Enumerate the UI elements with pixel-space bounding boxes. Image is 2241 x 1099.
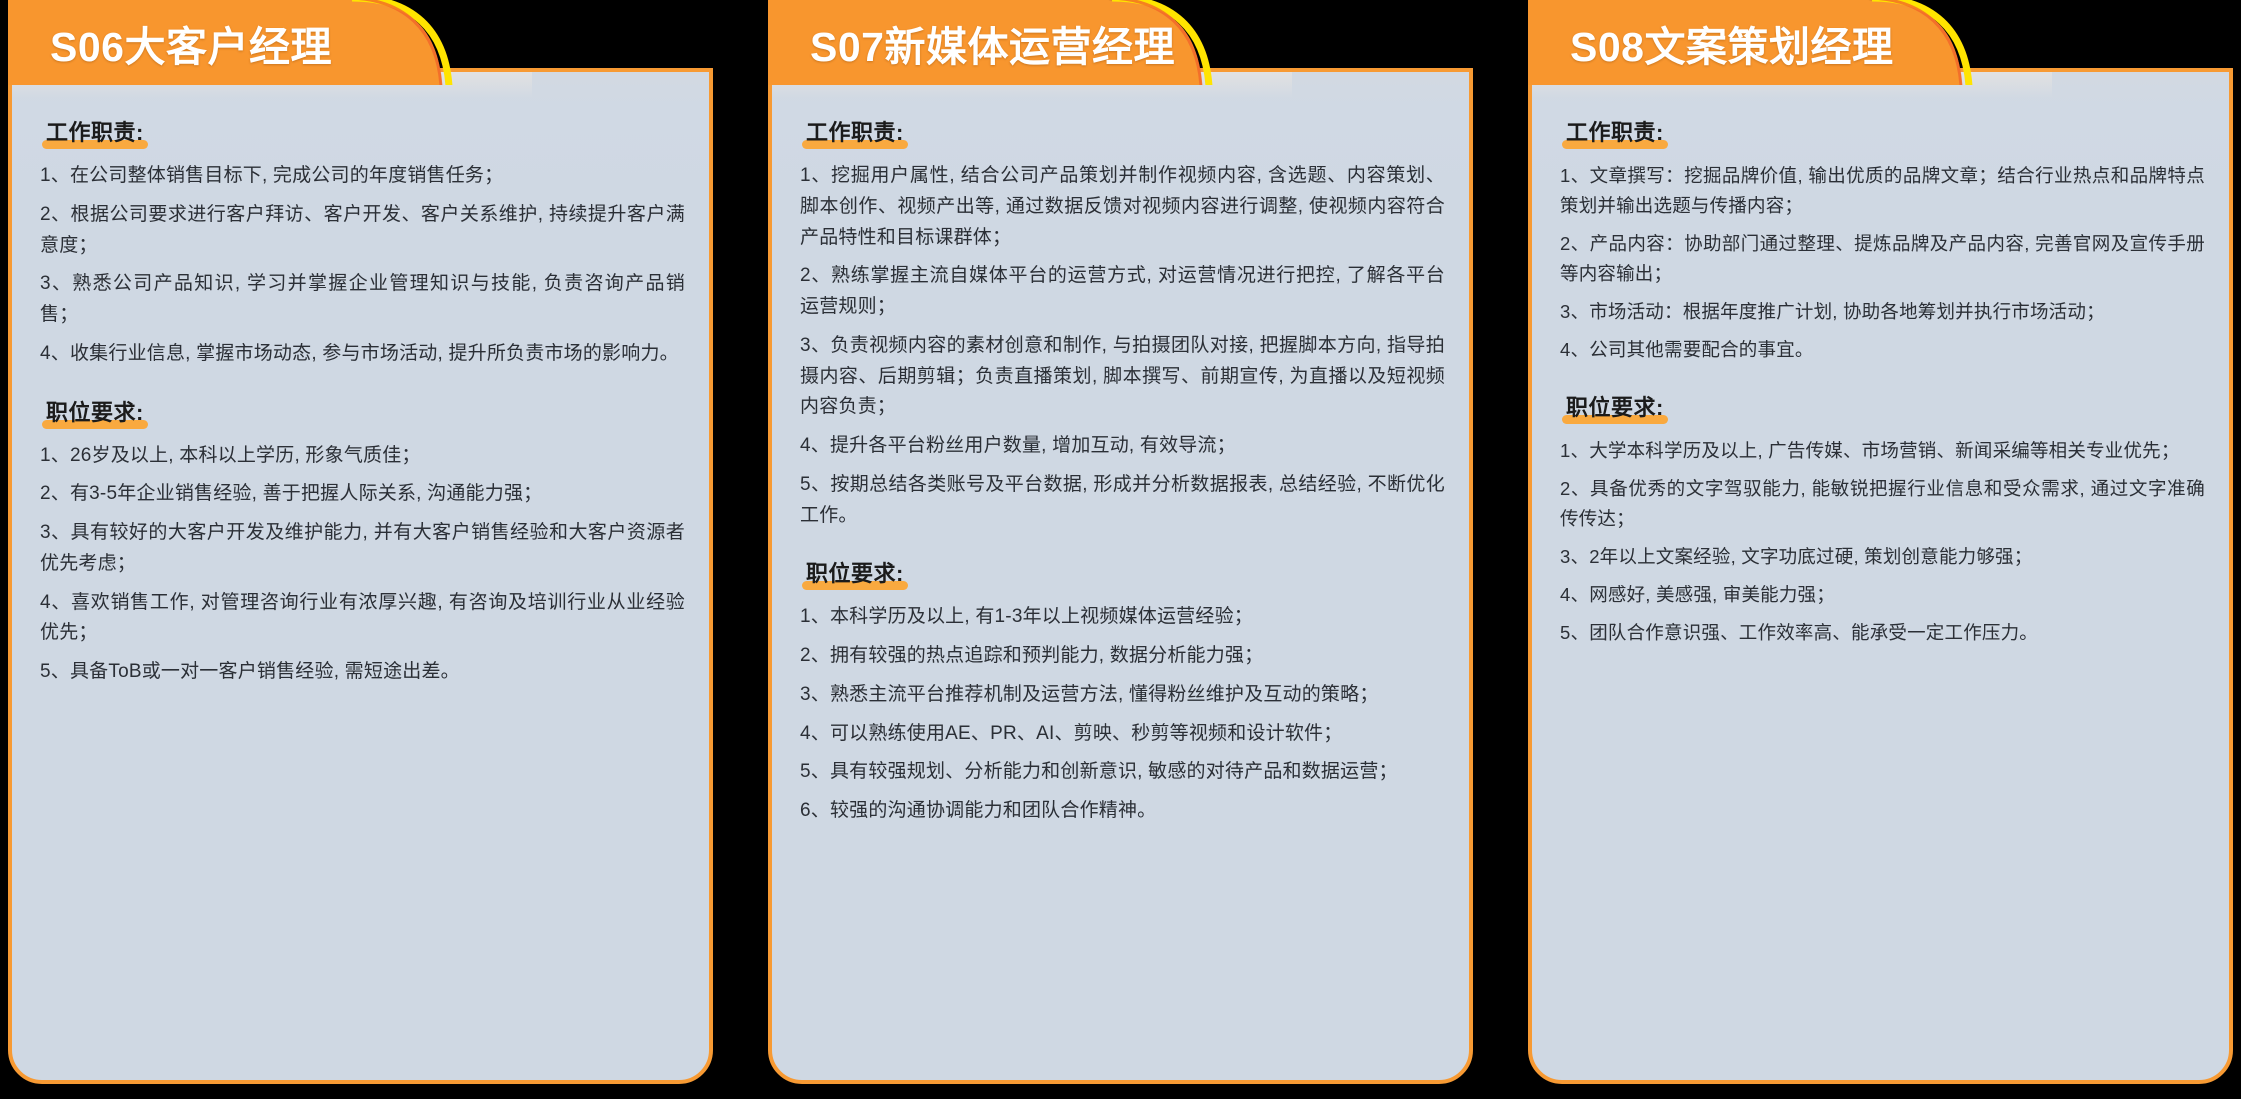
list-item: 2、熟练掌握主流自媒体平台的运营方式, 对运营情况进行把控, 了解各平台运营规则… bbox=[800, 261, 1445, 323]
responsibility-list: 1、在公司整体销售目标下, 完成公司的年度销售任务； 2、根据公司要求进行客户拜… bbox=[36, 161, 685, 370]
list-item: 1、26岁及以上, 本科以上学历, 形象气质佳； bbox=[40, 441, 685, 472]
job-card-banner: S06大客户经理 bbox=[8, 0, 713, 85]
section-heading: 工作职责: bbox=[1562, 116, 1668, 151]
job-title: S08文案策划经理 bbox=[1570, 0, 1893, 85]
job-card-panel: 工作职责: 1、在公司整体销售目标下, 完成公司的年度销售任务； 2、根据公司要… bbox=[8, 68, 713, 1084]
section-heading-label: 职位要求: bbox=[46, 400, 144, 425]
list-item: 5、按期总结各类账号及平台数据, 形成并分析数据报表, 总结经验, 不断优化工作… bbox=[800, 470, 1445, 532]
list-item: 4、提升各平台粉丝用户数量, 增加互动, 有效导流； bbox=[800, 431, 1445, 462]
section-heading-label: 工作职责: bbox=[806, 120, 904, 145]
job-card-s07: 工作职责: 1、挖掘用户属性, 结合公司产品策划并制作视频内容, 含选题、内容策… bbox=[768, 0, 1473, 1099]
list-item: 4、可以熟练使用AE、PR、AI、剪映、秒剪等视频和设计软件； bbox=[800, 719, 1445, 750]
job-card-s08: 工作职责: 1、文章撰写：挖掘品牌价值, 输出优质的品牌文章；结合行业热点和品牌… bbox=[1528, 0, 2233, 1099]
poster-stage: 工作职责: 1、在公司整体销售目标下, 完成公司的年度销售任务； 2、根据公司要… bbox=[0, 0, 2241, 1099]
job-title: S06大客户经理 bbox=[50, 0, 332, 85]
job-card-content: 工作职责: 1、挖掘用户属性, 结合公司产品策划并制作视频内容, 含选题、内容策… bbox=[772, 72, 1469, 847]
job-card-panel: 工作职责: 1、挖掘用户属性, 结合公司产品策划并制作视频内容, 含选题、内容策… bbox=[768, 68, 1473, 1084]
list-item: 2、根据公司要求进行客户拜访、客户开发、客户关系维护, 持续提升客户满意度； bbox=[40, 200, 685, 262]
job-card-content: 工作职责: 1、文章撰写：挖掘品牌价值, 输出优质的品牌文章；结合行业热点和品牌… bbox=[1532, 72, 2229, 668]
section-requirements: 职位要求: 1、大学本科学历及以上, 广告传媒、市场营销、新闻采编等相关专业优先… bbox=[1556, 391, 2205, 648]
list-item: 2、拥有较强的热点追踪和预判能力, 数据分析能力强； bbox=[800, 641, 1445, 672]
list-item: 4、收集行业信息, 掌握市场动态, 参与市场活动, 提升所负责市场的影响力。 bbox=[40, 339, 685, 370]
list-item: 2、有3-5年企业销售经验, 善于把握人际关系, 沟通能力强； bbox=[40, 479, 685, 510]
list-item: 3、2年以上文案经验, 文字功底过硬, 策划创意能力够强； bbox=[1560, 542, 2205, 572]
section-responsibilities: 工作职责: 1、在公司整体销售目标下, 完成公司的年度销售任务； 2、根据公司要… bbox=[36, 116, 685, 370]
job-title: S07新媒体运营经理 bbox=[810, 0, 1175, 85]
list-item: 4、网感好, 美感强, 审美能力强； bbox=[1560, 580, 2205, 610]
section-heading-label: 职位要求: bbox=[806, 561, 904, 586]
list-item: 2、产品内容：协助部门通过整理、提炼品牌及产品内容, 完善官网及宣传手册等内容输… bbox=[1560, 229, 2205, 289]
section-heading: 职位要求: bbox=[802, 557, 908, 592]
section-responsibilities: 工作职责: 1、文章撰写：挖掘品牌价值, 输出优质的品牌文章；结合行业热点和品牌… bbox=[1556, 116, 2205, 365]
list-item: 5、具备ToB或一对一客户销售经验, 需短途出差。 bbox=[40, 657, 685, 688]
section-heading-label: 工作职责: bbox=[46, 120, 144, 145]
responsibility-list: 1、挖掘用户属性, 结合公司产品策划并制作视频内容, 含选题、内容策划、脚本创作… bbox=[796, 161, 1445, 531]
list-item: 1、本科学历及以上, 有1-3年以上视频媒体运营经验； bbox=[800, 602, 1445, 633]
section-heading-label: 职位要求: bbox=[1566, 395, 1664, 420]
section-responsibilities: 工作职责: 1、挖掘用户属性, 结合公司产品策划并制作视频内容, 含选题、内容策… bbox=[796, 116, 1445, 531]
job-card-panel: 工作职责: 1、文章撰写：挖掘品牌价值, 输出优质的品牌文章；结合行业热点和品牌… bbox=[1528, 68, 2233, 1084]
list-item: 1、文章撰写：挖掘品牌价值, 输出优质的品牌文章；结合行业热点和品牌特点策划并输… bbox=[1560, 161, 2205, 221]
section-heading: 职位要求: bbox=[42, 396, 148, 431]
requirement-list: 1、本科学历及以上, 有1-3年以上视频媒体运营经验； 2、拥有较强的热点追踪和… bbox=[796, 602, 1445, 827]
list-item: 1、挖掘用户属性, 结合公司产品策划并制作视频内容, 含选题、内容策划、脚本创作… bbox=[800, 161, 1445, 253]
requirement-list: 1、26岁及以上, 本科以上学历, 形象气质佳； 2、有3-5年企业销售经验, … bbox=[36, 441, 685, 688]
list-item: 3、具有较好的大客户开发及维护能力, 并有大客户销售经验和大客户资源者优先考虑； bbox=[40, 518, 685, 580]
section-heading: 工作职责: bbox=[802, 116, 908, 151]
job-card-content: 工作职责: 1、在公司整体销售目标下, 完成公司的年度销售任务； 2、根据公司要… bbox=[12, 72, 709, 708]
list-item: 6、较强的沟通协调能力和团队合作精神。 bbox=[800, 796, 1445, 827]
list-item: 3、负责视频内容的素材创意和制作, 与拍摄团队对接, 把握脚本方向, 指导拍摄内… bbox=[800, 331, 1445, 423]
section-requirements: 职位要求: 1、26岁及以上, 本科以上学历, 形象气质佳； 2、有3-5年企业… bbox=[36, 396, 685, 688]
list-item: 5、具有较强规划、分析能力和创新意识, 敏感的对待产品和数据运营； bbox=[800, 757, 1445, 788]
job-card-banner: S08文案策划经理 bbox=[1528, 0, 2233, 85]
section-heading: 工作职责: bbox=[42, 116, 148, 151]
section-heading: 职位要求: bbox=[1562, 391, 1668, 426]
list-item: 1、大学本科学历及以上, 广告传媒、市场营销、新闻采编等相关专业优先； bbox=[1560, 436, 2205, 466]
section-heading-label: 工作职责: bbox=[1566, 120, 1664, 145]
requirement-list: 1、大学本科学历及以上, 广告传媒、市场营销、新闻采编等相关专业优先； 2、具备… bbox=[1556, 436, 2205, 648]
list-item: 3、市场活动：根据年度推广计划, 协助各地筹划并执行市场活动； bbox=[1560, 297, 2205, 327]
list-item: 4、喜欢销售工作, 对管理咨询行业有浓厚兴趣, 有咨询及培训行业从业经验优先； bbox=[40, 588, 685, 650]
job-card-banner: S07新媒体运营经理 bbox=[768, 0, 1473, 85]
list-item: 5、团队合作意识强、工作效率高、能承受一定工作压力。 bbox=[1560, 618, 2205, 648]
responsibility-list: 1、文章撰写：挖掘品牌价值, 输出优质的品牌文章；结合行业热点和品牌特点策划并输… bbox=[1556, 161, 2205, 365]
list-item: 3、熟悉主流平台推荐机制及运营方法, 懂得粉丝维护及互动的策略； bbox=[800, 680, 1445, 711]
job-card-s06: 工作职责: 1、在公司整体销售目标下, 完成公司的年度销售任务； 2、根据公司要… bbox=[8, 0, 713, 1099]
list-item: 4、公司其他需要配合的事宜。 bbox=[1560, 335, 2205, 365]
list-item: 3、熟悉公司产品知识, 学习并掌握企业管理知识与技能, 负责咨询产品销售； bbox=[40, 269, 685, 331]
list-item: 1、在公司整体销售目标下, 完成公司的年度销售任务； bbox=[40, 161, 685, 192]
list-item: 2、具备优秀的文字驾驭能力, 能敏锐把握行业信息和受众需求, 通过文字准确传传达… bbox=[1560, 474, 2205, 534]
section-requirements: 职位要求: 1、本科学历及以上, 有1-3年以上视频媒体运营经验； 2、拥有较强… bbox=[796, 557, 1445, 827]
